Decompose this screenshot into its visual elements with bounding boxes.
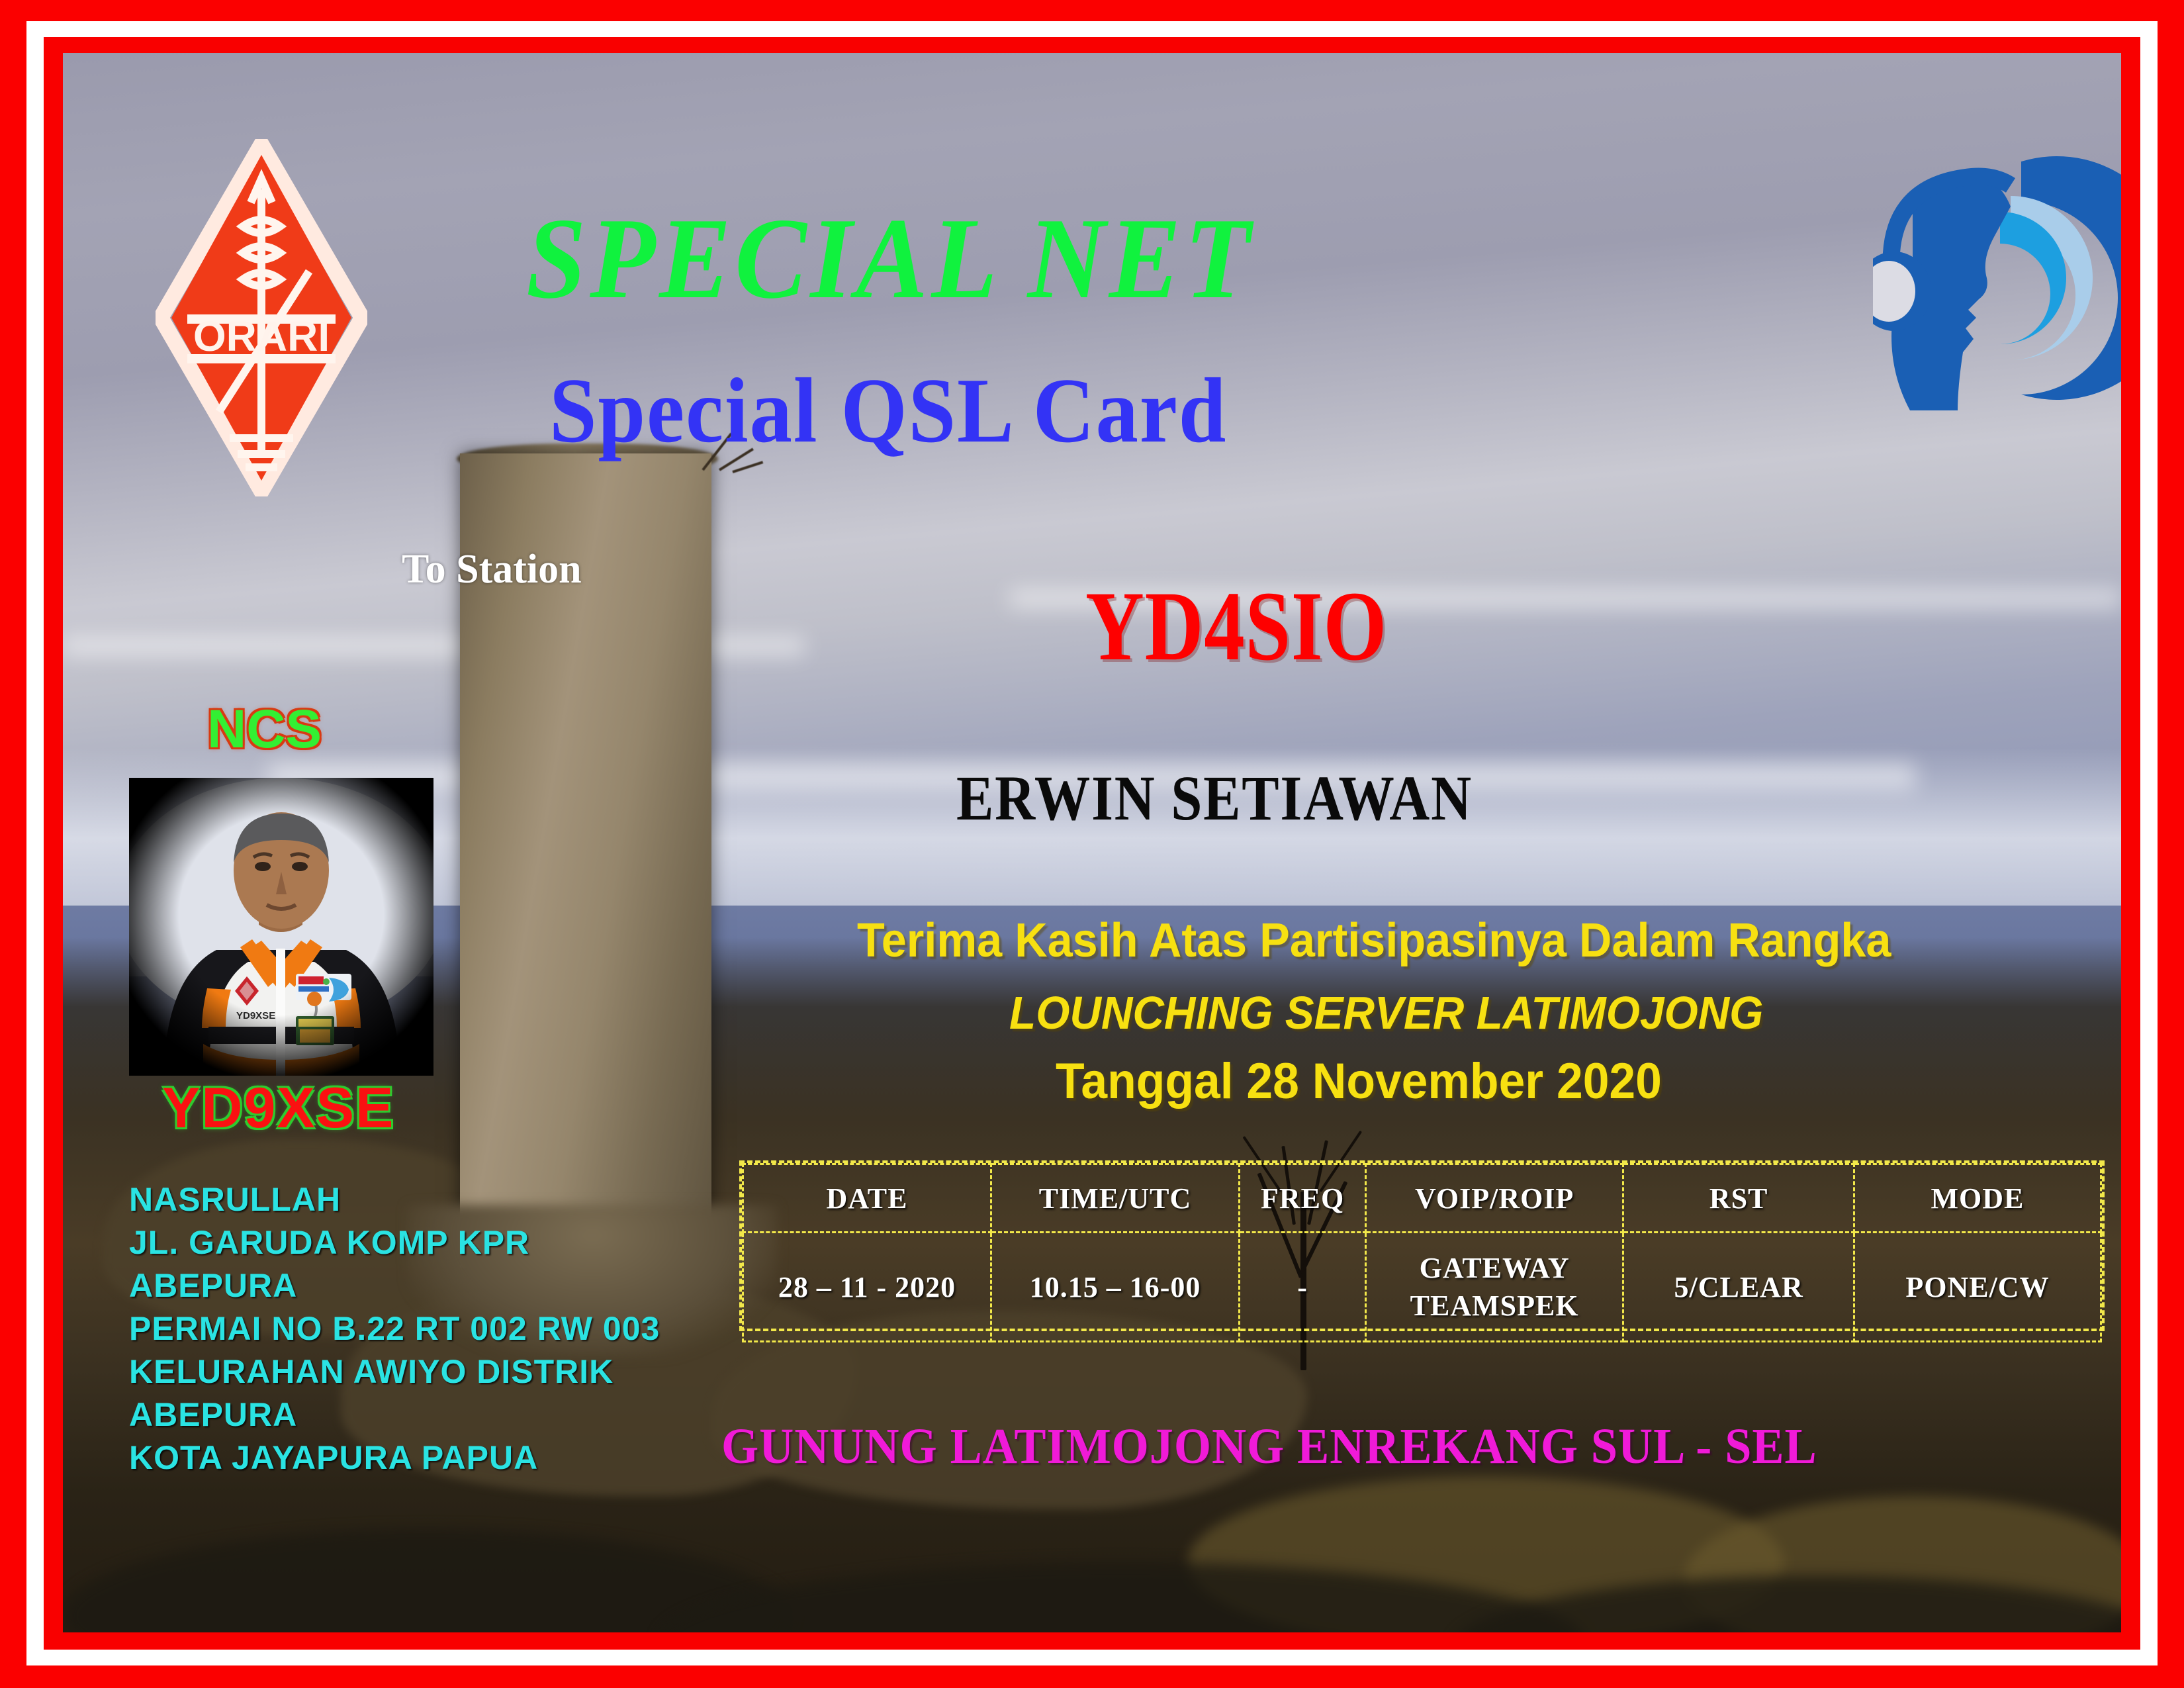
cell-voip-line2: TEAMSPEK <box>1367 1287 1621 1325</box>
qsl-card: ORARI SPECIAL NET Special Q <box>0 0 2184 1688</box>
ncs-callsign: YD9XSE <box>162 1076 394 1141</box>
qso-log-table: DATE TIME/UTC FREQ VOIP/ROIP RST MODE 28… <box>739 1160 2105 1331</box>
headset-radio-logo <box>1873 146 2121 410</box>
column-header-freq: FREQ <box>1240 1164 1366 1233</box>
event-date-line: Tanggal 28 November 2020 <box>1056 1053 1662 1110</box>
address-line: NASRULLAH <box>129 1178 660 1221</box>
ncs-address-block: NASRULLAH JL. GARUDA KOMP KPR ABEPURA PE… <box>129 1178 660 1479</box>
orari-logo: ORARI <box>156 139 367 496</box>
location-line: GUNUNG LATIMOJONG ENREKANG SUL - SEL <box>721 1418 1817 1476</box>
column-header-rst: RST <box>1623 1164 1854 1233</box>
table-row: 28 – 11 - 2020 10.15 – 16-00 - GATEWAY T… <box>743 1233 2101 1342</box>
address-line: ABEPURA <box>129 1264 660 1307</box>
address-line: KOTA JAYAPURA PAPUA <box>129 1436 660 1479</box>
cell-mode: PONE/CW <box>1854 1233 2101 1342</box>
address-line: KELURAHAN AWIYO DISTRIK <box>129 1350 660 1393</box>
column-header-mode: MODE <box>1854 1164 2101 1233</box>
cell-time: 10.15 – 16-00 <box>991 1233 1240 1342</box>
column-header-voip: VOIP/ROIP <box>1366 1164 1623 1233</box>
address-line: JL. GARUDA KOMP KPR <box>129 1221 660 1264</box>
to-station-label: To Station <box>402 546 582 593</box>
station-callsign: YD4SIO <box>1085 569 1387 683</box>
address-line: PERMAI NO B.22 RT 002 RW 003 <box>129 1307 660 1350</box>
page-subtitle: Special QSL Card <box>549 357 1227 464</box>
cell-voip: GATEWAY TEAMSPEK <box>1366 1233 1623 1342</box>
cell-rst: 5/CLEAR <box>1623 1233 1854 1342</box>
operator-name: ERWIN SETIAWAN <box>956 761 1473 835</box>
table-header-row: DATE TIME/UTC FREQ VOIP/ROIP RST MODE <box>743 1164 2101 1233</box>
cell-voip-line1: GATEWAY <box>1367 1249 1621 1287</box>
page-title: SPECIAL NET <box>526 192 1254 325</box>
ncs-label: NCS <box>207 698 322 761</box>
column-header-time: TIME/UTC <box>991 1164 1240 1233</box>
address-line: ABEPURA <box>129 1393 660 1436</box>
background-photo: ORARI SPECIAL NET Special Q <box>63 53 2121 1632</box>
event-line: LOUNCHING SERVER LATIMOJONG <box>1009 986 1763 1039</box>
cell-date: 28 – 11 - 2020 <box>743 1233 991 1342</box>
orari-logo-text: ORARI <box>193 312 330 360</box>
column-header-date: DATE <box>743 1164 991 1233</box>
cell-freq: - <box>1240 1233 1366 1342</box>
ncs-operator-photo: YD9XSE <box>129 778 433 1076</box>
thanks-line: Terima Kasih Atas Partisipasinya Dalam R… <box>857 914 1891 968</box>
